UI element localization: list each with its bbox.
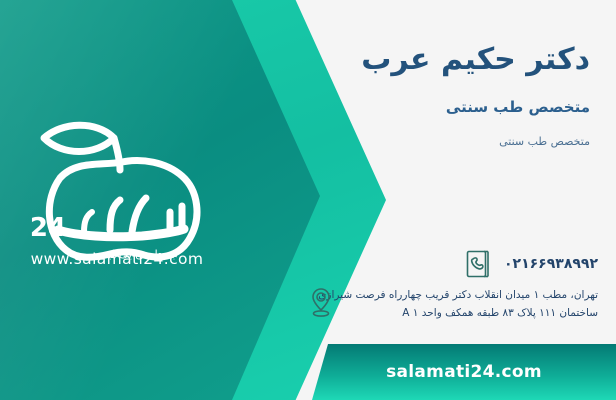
address-line-1: تهران، مطب ۱ میدان انقلاب دکتر قریب چهار… [348,286,598,304]
doctor-name: دکتر حکیم عرب [361,42,590,77]
specialty-primary: متخصص طب سنتی [446,98,590,116]
location-pin-icon [306,286,336,318]
phone-contact-row[interactable]: ۰۲۱۶۶۹۳۸۹۹۲ [462,248,598,280]
address-contact-row[interactable]: تهران، مطب ۱ میدان انقلاب دکتر قریب چهار… [306,286,598,322]
content-area: دکتر حکیم عرب متخصص طب سنتی متخصص طب سنت… [296,0,616,400]
address-text: تهران، مطب ۱ میدان انقلاب دکتر قریب چهار… [348,286,598,322]
footer-website-link[interactable]: salamati24.com [386,362,542,382]
phone-book-icon [462,248,492,280]
doctor-profile-card: 24 به راحتی یک لبخند www.salamati24.com … [0,0,616,400]
phone-number[interactable]: ۰۲۱۶۶۹۳۸۹۹۲ [504,248,598,280]
footer-bar[interactable]: salamati24.com [312,344,616,400]
address-line-2: ساختمان ۱۱۱ پلاک ۸۳ طبقه همکف واحد A ۱ [348,304,598,322]
logo-website-url: www.salamati24.com [14,250,220,268]
logo-badge-text: 24 [30,213,66,243]
specialty-secondary: متخصص طب سنتی [499,135,590,148]
brand-logo: 24 به راحتی یک لبخند www.salamati24.com [14,108,220,276]
